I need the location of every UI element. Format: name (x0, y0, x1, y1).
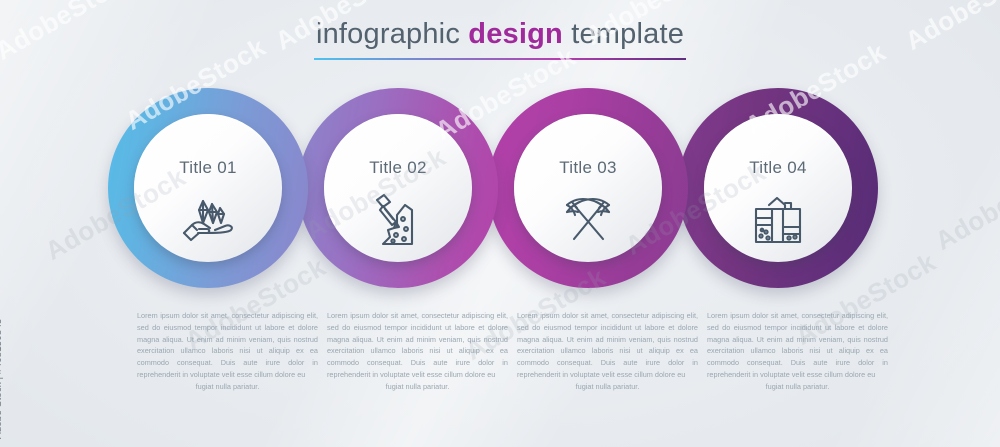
step-4-body-last-line: fugiat nulla pariatur. (707, 381, 888, 393)
step-4-description: Lorem ipsum dolor sit amet, consectetur … (707, 310, 888, 393)
step-2-inner-disc: Title 02 (324, 114, 472, 262)
step-2-body: Lorem ipsum dolor sit amet, consectetur … (327, 311, 508, 379)
step-2-title: Title 02 (324, 158, 472, 178)
headline-text: infographic design template (0, 18, 1000, 51)
step-1-body-last-line: fugiat nulla pariatur. (137, 381, 318, 393)
step-2-description: Lorem ipsum dolor sit amet, consectetur … (327, 310, 508, 393)
step-2-body-last-line: fugiat nulla pariatur. (327, 381, 508, 393)
step-4-inner-disc: Title 04 (704, 114, 852, 262)
step-3-description: Lorem ipsum dolor sit amet, consectetur … (517, 310, 698, 393)
step-1-body: Lorem ipsum dolor sit amet, consectetur … (137, 311, 318, 379)
step-circle-4[interactable]: Title 04 (678, 88, 878, 288)
headline-part-2: template (563, 18, 684, 50)
watermark-tile: AdobeStock (930, 152, 1000, 257)
headline-part-1: infographic (316, 18, 468, 50)
step-1-description: Lorem ipsum dolor sit amet, consectetur … (137, 310, 318, 393)
headline-accent-word: design (468, 18, 563, 50)
step-3-inner-disc: Title 03 (514, 114, 662, 262)
mining-plant-building-icon (704, 188, 852, 250)
step-1-title: Title 01 (134, 158, 282, 178)
step-3-body-last-line: fugiat nulla pariatur. (517, 381, 698, 393)
stock-credit-label: Adobe Stock | #468150845 (0, 319, 4, 439)
step-4-title: Title 04 (704, 158, 852, 178)
step-4-body: Lorem ipsum dolor sit amet, consectetur … (707, 311, 888, 379)
step-3-body: Lorem ipsum dolor sit amet, consectetur … (517, 311, 698, 379)
step-circle-2[interactable]: Title 02 (298, 88, 498, 288)
chisel-rock-icon (324, 188, 472, 250)
step-circle-3[interactable]: Title 03 (488, 88, 688, 288)
step-1-inner-disc: Title 01 (134, 114, 282, 262)
infographic-canvas: infographic design template Title 01 (0, 0, 1000, 447)
hand-holding-gems-icon (134, 188, 282, 250)
page-title: infographic design template (0, 18, 1000, 60)
crossed-pickaxes-icon (514, 188, 662, 250)
step-circle-1[interactable]: Title 01 (108, 88, 308, 288)
headline-underline-gradient (314, 58, 686, 60)
step-3-title: Title 03 (514, 158, 662, 178)
